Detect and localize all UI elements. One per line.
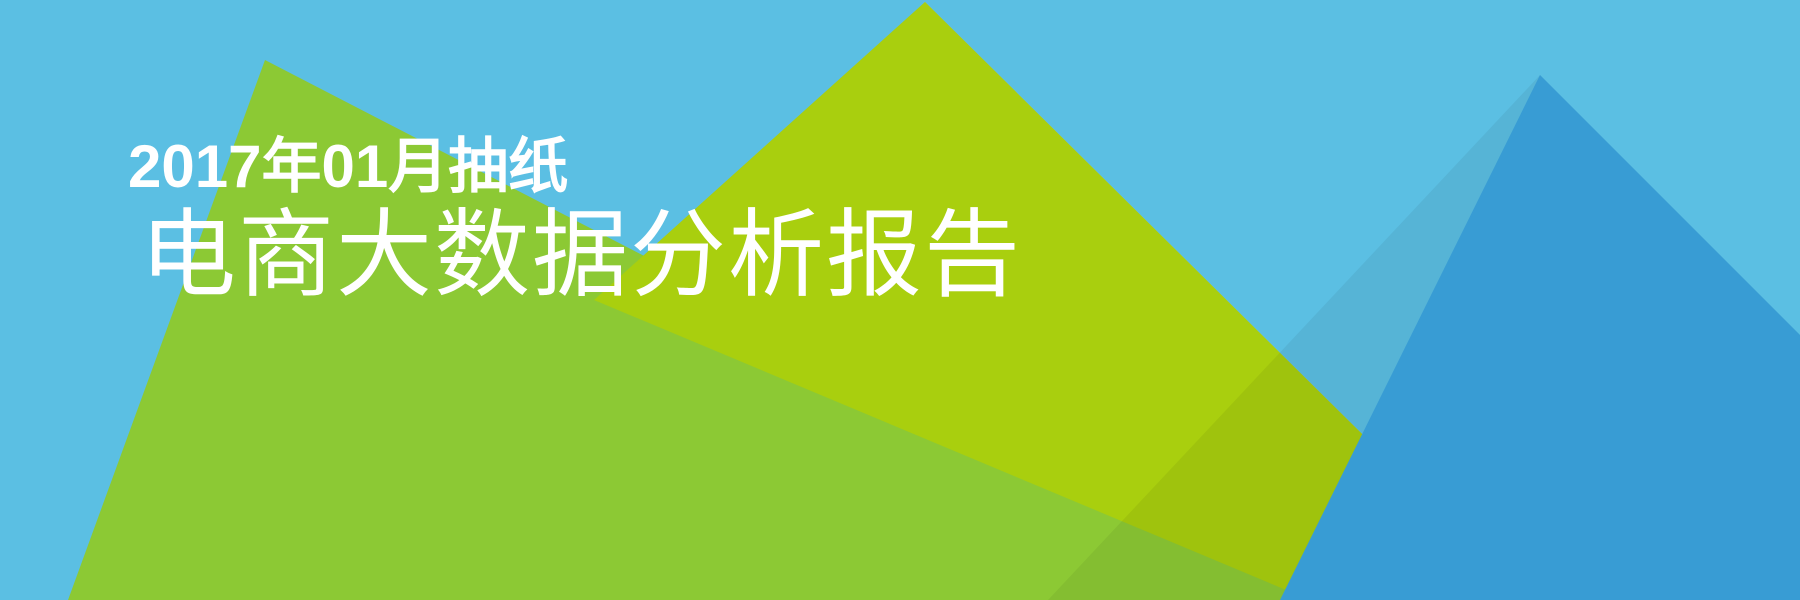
report-cover-banner: 2017年01月抽纸 电商大数据分析报告 xyxy=(0,0,1800,600)
background-graphic xyxy=(0,0,1800,600)
